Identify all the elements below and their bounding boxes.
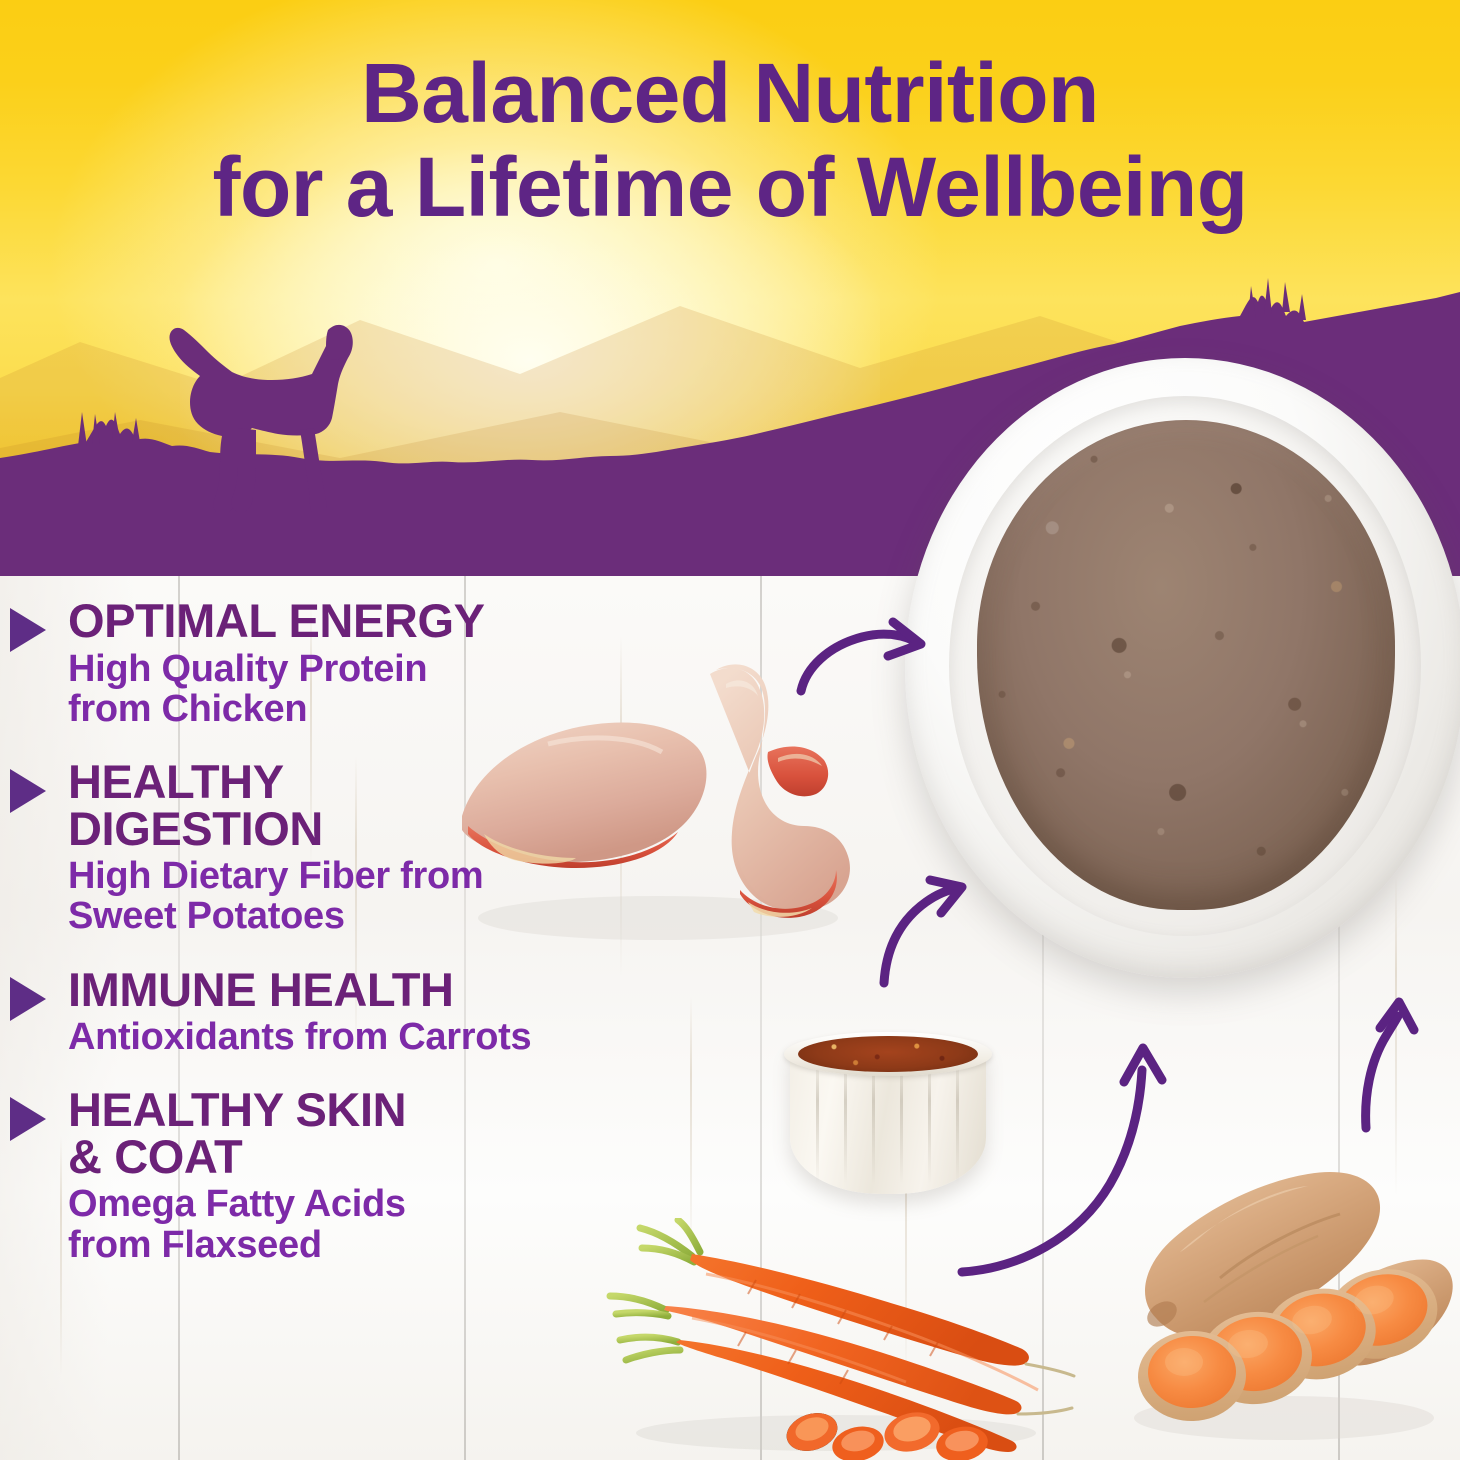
pate-food	[977, 420, 1395, 910]
sweet-potatoes-sliced	[1108, 1118, 1460, 1448]
pate-texture	[977, 420, 1395, 910]
triangle-bullet-icon	[10, 1097, 46, 1141]
triangle-bullet-icon	[10, 608, 46, 652]
dog-food-bowl-pate	[905, 358, 1460, 998]
benefit-title: IMMUNE HEALTH	[68, 967, 640, 1014]
benefit-title: HEALTHY SKIN & COAT	[68, 1087, 640, 1180]
triangle-bullet-icon	[10, 977, 46, 1021]
raw-chicken-pieces	[448, 648, 868, 948]
page-title: Balanced Nutrition for a Lifetime of Wel…	[0, 46, 1460, 234]
fresh-carrots	[596, 1218, 1076, 1460]
dog-silhouette-icon	[168, 322, 498, 537]
nutrition-infographic: Balanced Nutrition for a Lifetime of Wel…	[0, 0, 1460, 1460]
benefit-subtitle: Antioxidants from Carrots	[68, 1017, 640, 1057]
benefit-subtitle: Omega Fatty Acids from Flaxseed	[68, 1184, 640, 1265]
benefit-item-immune-health: IMMUNE HEALTH Antioxidants from Carrots	[0, 967, 640, 1058]
triangle-bullet-icon	[10, 769, 46, 813]
benefit-item-healthy-skin-coat: HEALTHY SKIN & COAT Omega Fatty Acids fr…	[0, 1087, 640, 1265]
flaxseed-ramekin	[778, 1000, 998, 1210]
flaxseed-fill	[798, 1036, 978, 1072]
benefit-title: OPTIMAL ENERGY	[68, 598, 640, 645]
